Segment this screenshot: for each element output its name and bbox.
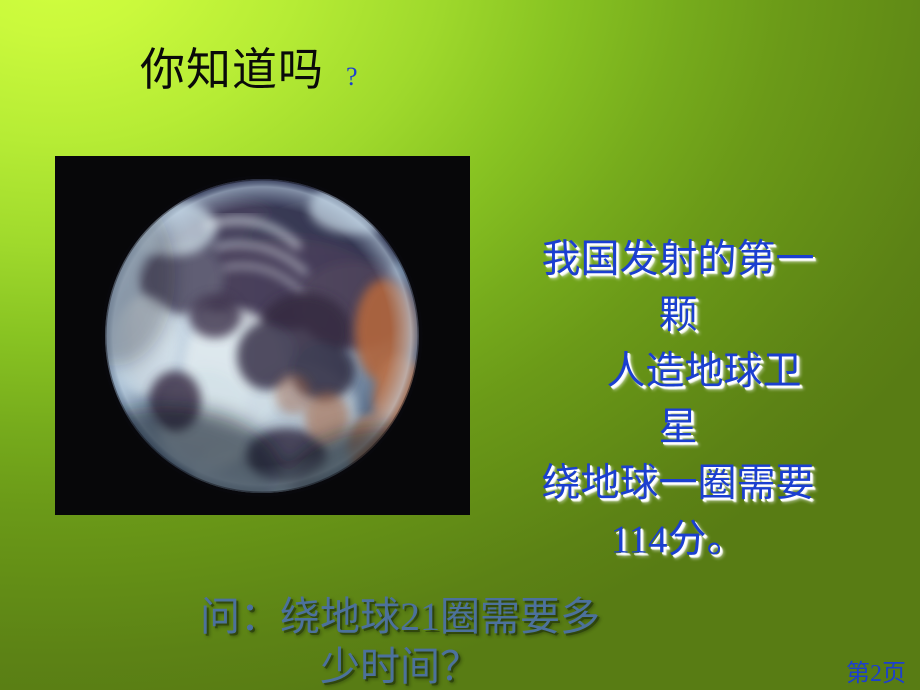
body-line-1: 我国发射的第一 [492, 232, 864, 288]
body-line-2: 颗 [492, 288, 864, 344]
page-title: 你知道吗 ? [140, 48, 358, 93]
question-mark-icon: ? [346, 64, 358, 90]
body-line-6: 114分。 [492, 512, 864, 568]
slide-canvas: 你知道吗 ? [0, 0, 920, 690]
earth-photo [55, 156, 470, 515]
body-line-5: 绕地球一圈需要 [492, 456, 864, 512]
body-text-block: 我国发射的第一 颗 人造地球卫 星 绕地球一圈需要 114分。 [492, 232, 864, 568]
body-line-3: 人造地球卫 [492, 344, 864, 400]
page-title-text: 你知道吗 [140, 48, 324, 93]
question-text-block: 问：绕地球21圈需要多 少时间？ [120, 592, 680, 690]
question-line-1: 问：绕地球21圈需要多 [120, 592, 680, 642]
page-number-label: 第2页 [846, 662, 906, 686]
question-line-2: 少时间？ [120, 642, 680, 690]
body-line-4: 星 [492, 400, 864, 456]
